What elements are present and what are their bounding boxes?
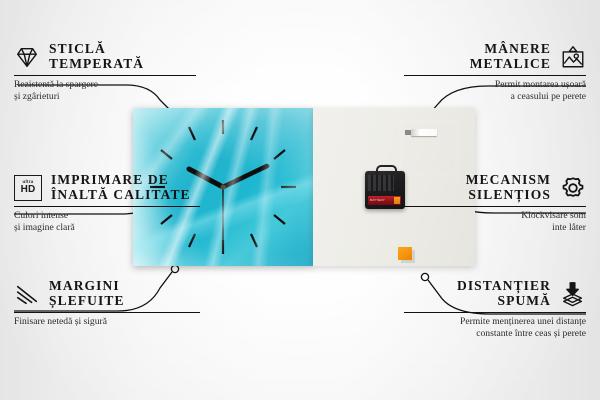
callout-rule [404,312,586,313]
callout-header: MECANISM SILENȚIOS [404,173,586,202]
callout-foam-spacer: DISTANȚIER SPUMĂ Permite menținerea unei… [404,279,586,339]
infographic-canvas: BATTERY STICLĂ TEMPERATĂ Rezistentă la s… [0,0,600,400]
callout-rule [14,312,200,313]
callout-header: STICLĂ TEMPERATĂ [14,42,196,71]
callout-header: MARGINI ȘLEFUITE [14,279,200,308]
callout-subtitle: Permit montarea ușoară a ceasului pe per… [404,79,586,102]
callout-title: STICLĂ TEMPERATĂ [49,42,144,71]
callout-title: MARGINI ȘLEFUITE [49,279,125,308]
movement-body-grid [368,175,394,191]
callout-rule [14,75,196,76]
callout-tempered-glass: STICLĂ TEMPERATĂ Rezistentă la spargere … [14,42,196,102]
battery: BATTERY [368,196,401,205]
callout-silent-mechanism: MECANISM SILENȚIOS Klockvisare som inte … [404,173,586,233]
diamond-icon [14,44,40,70]
callout-rule [14,206,200,207]
gear-icon [560,175,586,201]
callout-title: MECANISM SILENȚIOS [466,173,551,202]
metal-hanger-plate [399,120,459,175]
callout-print-quality: ultra HD IMPRIMARE DE ÎNALTĂ CALITATE Cu… [14,173,200,233]
callout-rule [404,75,586,76]
foam-spacer-arrow-icon [560,281,586,307]
callout-title: IMPRIMARE DE ÎNALTĂ CALITATE [51,173,191,202]
ultra-hd-badge-icon: ultra HD [14,175,42,201]
callout-subtitle: Rezistentă la spargere și zgârieturi [14,79,196,102]
callout-header: ultra HD IMPRIMARE DE ÎNALTĂ CALITATE [14,173,200,202]
hanging-picture-frame-icon [560,44,586,70]
callout-title: DISTANȚIER SPUMĂ [457,279,551,308]
callout-header: MÂNERE METALICE [404,42,586,71]
orange-foam-spacer [398,247,412,260]
callout-subtitle: Klockvisare som inte låter [404,210,586,233]
polished-edges-icon [14,281,40,307]
callout-polished-edges: MARGINI ȘLEFUITE Finisare netedă și sigu… [14,279,200,328]
connector-dot-edges [171,265,178,272]
callout-subtitle: Finisare netedă și sigură [14,316,200,327]
battery-label: BATTERY [370,198,385,202]
callout-subtitle: Permite menținerea unei distanțe constan… [404,316,586,339]
hanger-keyhole-slot [411,129,437,136]
callout-header: DISTANȚIER SPUMĂ [404,279,586,308]
badge-hd-label: HD [21,185,36,195]
callout-title: MÂNERE METALICE [470,42,551,71]
callout-metal-hooks: MÂNERE METALICE Permit montarea ușoară a… [404,42,586,102]
callout-subtitle: Culori intense și imagine clară [14,210,200,233]
callout-rule [404,206,586,207]
quartz-movement: BATTERY [365,171,405,209]
